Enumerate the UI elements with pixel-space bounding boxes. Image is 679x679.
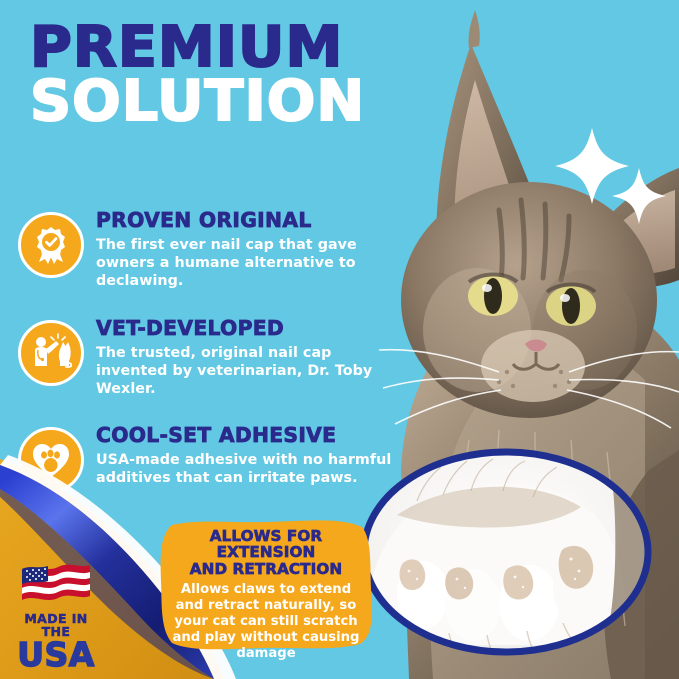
page-title: PREMIUM SOLUTION bbox=[30, 22, 430, 128]
made-in-usa-badge: MADE IN THE USA bbox=[8, 561, 104, 671]
feature-vet-developed: VET-DEVELOPED The trusted, original nail… bbox=[18, 316, 398, 398]
product-infographic: PREMIUM SOLUTION PROVEN ORIGINAL The fir… bbox=[0, 0, 679, 679]
usa-text: USA bbox=[8, 638, 104, 671]
callout-title-line-1: ALLOWS FOR EXTENSION bbox=[210, 527, 322, 561]
headline-line-2: SOLUTION bbox=[30, 76, 438, 128]
cat-paw-with-nail-caps-photo bbox=[357, 445, 655, 659]
headline-line-1: PREMIUM bbox=[30, 22, 438, 74]
callout-body: Allows claws to extend and retract natur… bbox=[170, 582, 362, 661]
feature-body: The first ever nail cap that gave owners… bbox=[96, 236, 398, 290]
feature-title: VET-DEVELOPED bbox=[96, 318, 395, 340]
award-ribbon-icon bbox=[18, 212, 84, 278]
feature-body: The trusted, original nail cap invented … bbox=[96, 344, 398, 398]
vet-high-five-cat-icon bbox=[18, 320, 84, 386]
feature-title: PROVEN ORIGINAL bbox=[96, 210, 395, 232]
callout-title: ALLOWS FOR EXTENSION AND RETRACTION bbox=[170, 528, 362, 577]
us-flag-icon bbox=[20, 561, 92, 607]
callout-extension-retraction: ALLOWS FOR EXTENSION AND RETRACTION Allo… bbox=[158, 519, 374, 651]
feature-proven-original: PROVEN ORIGINAL The first ever nail cap … bbox=[18, 208, 398, 290]
callout-title-line-2: AND RETRACTION bbox=[190, 560, 342, 578]
